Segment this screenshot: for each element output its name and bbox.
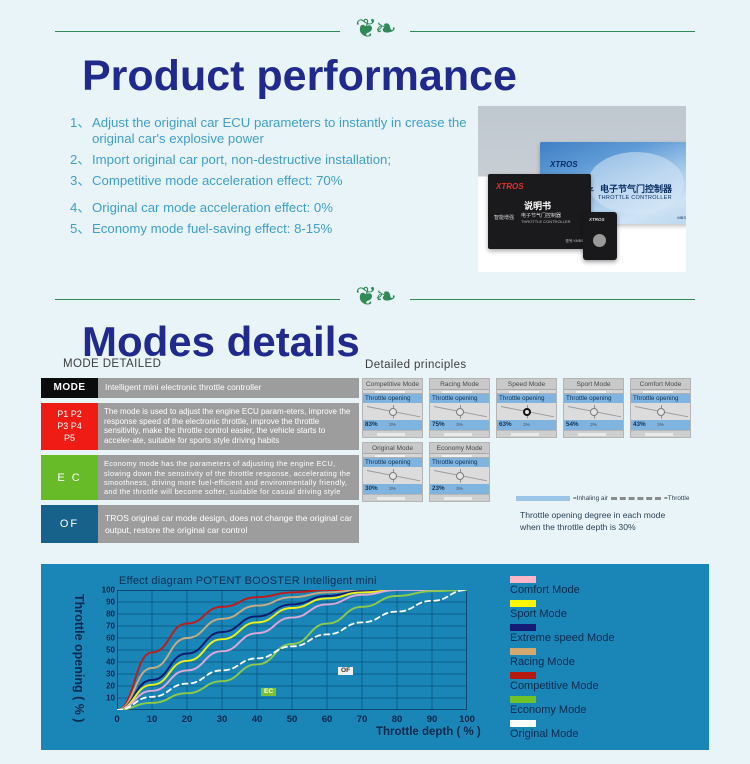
product-bullet-list: 1、 Adjust the original car ECU parameter… xyxy=(70,115,470,237)
unit-button-icon xyxy=(593,234,606,247)
unit-brand-logo: XTROS xyxy=(589,217,605,222)
manual-side-text: 智能增强 xyxy=(494,214,514,221)
mode-desc-cell: TROS original car mode design, does not … xyxy=(98,505,359,543)
chart-x-tick: 30 xyxy=(217,714,228,725)
legend-row: =Inhaling air =Throttle xyxy=(516,495,731,502)
table-row: P1 P2 P3 P4 P5 The mode is used to adjus… xyxy=(41,403,359,451)
mode-key-cell: P1 P2 P3 P4 P5 xyxy=(41,403,98,451)
bullet-text: Economy mode fuel-saving effect: 8-15% xyxy=(92,221,470,237)
principle-cards-row-2: Original ModeThrottle opening30%3%Econom… xyxy=(362,442,490,502)
box-model-code: MBS xyxy=(677,215,686,220)
card-throttle-opening-label: Throttle opening xyxy=(497,394,556,403)
card-throttle-knob-icon xyxy=(590,408,598,416)
chart-x-tick: 50 xyxy=(287,714,298,725)
product-manual: XTROS 说明书 电子节气门控制器 THROTTLE CONTROLLER 智… xyxy=(488,174,591,249)
product-control-unit: XTROS xyxy=(583,212,617,260)
product-photo: XTROS 电子 电子节气门控制器 THROTTLE CONTROLLER MB… xyxy=(478,106,686,272)
flourish-ornament-icon: ❦❧ xyxy=(355,14,395,44)
card-foot-percent: 3% xyxy=(590,422,597,427)
chart-y-tick: 70 xyxy=(93,622,115,631)
mode-desc-cell: The mode is used to adjust the engine EC… xyxy=(98,403,359,451)
table-row: E C Economy mode has the parameters of a… xyxy=(41,455,359,500)
mode-principle-card: Sport ModeThrottle opening54%3% xyxy=(563,378,624,438)
card-throttle-opening-label: Throttle opening xyxy=(430,394,489,403)
principle-cards-row-1: Competitive ModeThrottle opening83%3%Rac… xyxy=(362,378,691,438)
inhaling-air-swatch-icon xyxy=(516,496,570,501)
principle-legend: =Inhaling air =Throttle xyxy=(516,495,731,502)
chart-annotation-of: OF xyxy=(338,667,353,675)
card-footer: 3% xyxy=(430,494,489,501)
list-item: 5、 Economy mode fuel-saving effect: 8-15… xyxy=(70,221,470,237)
card-foot-percent: 3% xyxy=(657,422,664,427)
card-throttle-opening-label: Throttle opening xyxy=(363,458,422,467)
product-performance-section: ❦❧ Product performance 1、 Adjust the ori… xyxy=(0,14,750,237)
card-throttle-knob-icon xyxy=(523,408,531,416)
chart-y-tick: 90 xyxy=(93,598,115,607)
chart-legend-item: Sport Mode xyxy=(510,600,705,622)
modes-details-section: ❦❧ Modes details xyxy=(0,282,750,366)
chart-x-tick: 100 xyxy=(459,714,475,725)
chart-x-tick: 70 xyxy=(357,714,368,725)
chart-y-tick: 40 xyxy=(93,658,115,667)
chart-x-tick: 40 xyxy=(252,714,263,725)
bullet-number: 3、 xyxy=(70,173,92,189)
mode-principle-card: Original ModeThrottle opening30%3% xyxy=(362,442,423,502)
chart-x-tick: 10 xyxy=(147,714,158,725)
mode-key-cell: OF xyxy=(41,505,98,543)
chart-y-tick: 60 xyxy=(93,634,115,643)
chart-legend-item: Economy Mode xyxy=(510,696,705,718)
chart-x-tick: 60 xyxy=(322,714,333,725)
bullet-number: 2、 xyxy=(70,152,92,168)
card-footer: 3% xyxy=(631,430,690,437)
mode-principle-card: Competitive ModeThrottle opening83%3% xyxy=(362,378,423,438)
chart-x-tick: 80 xyxy=(392,714,403,725)
list-item: 4、 Original car mode acceleration effect… xyxy=(70,200,470,216)
card-throttle-opening-label: Throttle opening xyxy=(564,394,623,403)
manual-chinese-title: 说明书 xyxy=(524,199,551,212)
chart-y-tick: 50 xyxy=(93,646,115,655)
mode-desc-cell: Intelligent mini electronic throttle con… xyxy=(98,378,359,398)
list-item: 2、 Import original car port, non-destruc… xyxy=(70,152,470,168)
chart-y-tick: 80 xyxy=(93,610,115,619)
bullet-text: Adjust the original car ECU parameters t… xyxy=(92,115,470,147)
legend-label-throttle: =Throttle xyxy=(664,495,689,502)
card-throttle-knob-icon xyxy=(389,472,397,480)
card-throttle-knob-icon xyxy=(657,408,665,416)
chart-svg xyxy=(117,590,467,710)
chart-y-tick: 100 xyxy=(93,586,115,595)
chart-x-tick: 0 xyxy=(114,714,119,725)
manual-english-title: THROTTLE CONTROLLER xyxy=(521,219,571,224)
manual-brand-logo: XTROS xyxy=(496,182,524,191)
legend-label: Economy Mode xyxy=(510,703,705,718)
mode-principle-card: Racing ModeThrottle opening75%3% xyxy=(429,378,490,438)
card-title: Competitive Mode xyxy=(363,379,422,390)
chart-annotation-ec: EC xyxy=(261,688,276,696)
legend-color-swatch-icon xyxy=(510,696,536,703)
bullet-text: Import original car port, non-destructiv… xyxy=(92,152,470,168)
card-footer: 3% xyxy=(430,430,489,437)
manual-subtitle: 电子节气门控制器 xyxy=(521,212,561,219)
divider-line-left xyxy=(55,31,340,32)
principle-caption: Throttle opening degree in each mode whe… xyxy=(520,509,735,533)
card-title: Racing Mode xyxy=(430,379,489,390)
legend-label: Sport Mode xyxy=(510,607,705,622)
legend-label-inhaling: =Inhaling air xyxy=(573,495,608,502)
caption-line-1: Throttle opening degree in each mode xyxy=(520,509,735,521)
legend-color-swatch-icon xyxy=(510,576,536,583)
caption-line-2: when the throttle depth is 30% xyxy=(520,521,735,533)
flourish-ornament-icon: ❦❧ xyxy=(355,282,395,312)
chart-legend: Comfort ModeSport ModeExtreme speed Mode… xyxy=(510,576,705,744)
card-throttle-opening-label: Throttle opening xyxy=(631,394,690,403)
card-throttle-knob-icon xyxy=(456,408,464,416)
chart-y-tick: 10 xyxy=(93,694,115,703)
chart-legend-item: Original Mode xyxy=(510,720,705,742)
card-footer: 3% xyxy=(363,430,422,437)
table-row: OF TROS original car mode design, does n… xyxy=(41,505,359,543)
ornament-divider-top: ❦❧ xyxy=(0,14,750,48)
mode-key-cell: MODE xyxy=(41,378,98,398)
box-brand-logo: XTROS xyxy=(550,160,578,169)
box-english-title: THROTTLE CONTROLLER xyxy=(598,195,672,201)
list-item: 3、 Competitive mode acceleration effect:… xyxy=(70,173,470,189)
mode-desc-cell: Economy mode has the parameters of adjus… xyxy=(98,455,359,500)
card-footer: 3% xyxy=(363,494,422,501)
card-foot-percent: 3% xyxy=(456,486,463,491)
legend-color-swatch-icon xyxy=(510,672,536,679)
list-item: 1、 Adjust the original car ECU parameter… xyxy=(70,115,470,147)
card-footer: 3% xyxy=(497,430,556,437)
chart-title: Effect diagram POTENT BOOSTER Intelligen… xyxy=(119,575,377,587)
legend-label: Extreme speed Mode xyxy=(510,631,705,646)
legend-label: Racing Mode xyxy=(510,655,705,670)
chart-legend-item: Extreme speed Mode xyxy=(510,624,705,646)
card-title: Original Mode xyxy=(363,443,422,454)
card-foot-percent: 3% xyxy=(523,422,530,427)
mode-key-cell: E C xyxy=(41,455,98,500)
legend-color-swatch-icon xyxy=(510,624,536,631)
card-footer: 3% xyxy=(564,430,623,437)
mode-principle-card: Economy ModeThrottle opening23%3% xyxy=(429,442,490,502)
page-title-product: Product performance xyxy=(82,52,750,101)
chart-legend-item: Comfort Mode xyxy=(510,576,705,598)
card-foot-percent: 3% xyxy=(456,422,463,427)
bullet-number: 5、 xyxy=(70,221,92,237)
legend-label: Comfort Mode xyxy=(510,583,705,598)
card-throttle-opening-label: Throttle opening xyxy=(363,394,422,403)
chart-y-tick: 20 xyxy=(93,682,115,691)
mode-detail-table: MODE Intelligent mini electronic throttl… xyxy=(41,378,359,548)
chart-y-tick: 30 xyxy=(93,670,115,679)
divider-line-right xyxy=(410,299,695,300)
legend-color-swatch-icon xyxy=(510,720,536,727)
mode-detailed-heading: MODE DETAILED xyxy=(63,358,161,370)
bullet-text: Competitive mode acceleration effect: 70… xyxy=(92,173,470,189)
card-title: Speed Mode xyxy=(497,379,556,390)
divider-line-right xyxy=(410,31,695,32)
chart-y-axis-label: Throttle opening ( % ) xyxy=(70,594,86,722)
card-foot-percent: 3% xyxy=(389,486,396,491)
card-title: Economy Mode xyxy=(430,443,489,454)
chart-legend-item: Racing Mode xyxy=(510,648,705,670)
chart-x-axis-label: Throttle depth ( % ) xyxy=(376,726,481,738)
legend-color-swatch-icon xyxy=(510,600,536,607)
legend-color-swatch-icon xyxy=(510,648,536,655)
card-title: Sport Mode xyxy=(564,379,623,390)
chart-legend-item: Competitive Mode xyxy=(510,672,705,694)
bullet-number: 4、 xyxy=(70,200,92,216)
chart-x-tick: 90 xyxy=(427,714,438,725)
card-throttle-opening-label: Throttle opening xyxy=(430,458,489,467)
card-foot-percent: 3% xyxy=(389,422,396,427)
ornament-divider-middle: ❦❧ xyxy=(0,282,750,316)
throttle-swatch-icon xyxy=(611,497,661,500)
divider-line-left xyxy=(55,299,340,300)
mode-principle-card: Comfort ModeThrottle opening43%3% xyxy=(630,378,691,438)
chart-plot-area: 102030405060708090100 010203040506070809… xyxy=(117,590,467,710)
legend-label: Competitive Mode xyxy=(510,679,705,694)
legend-label: Original Mode xyxy=(510,727,705,742)
chart-x-tick: 20 xyxy=(182,714,193,725)
table-row: MODE Intelligent mini electronic throttl… xyxy=(41,378,359,398)
mode-principle-card: Speed ModeThrottle opening63%3% xyxy=(496,378,557,438)
card-title: Comfort Mode xyxy=(631,379,690,390)
bullet-text: Original car mode acceleration effect: 0… xyxy=(92,200,470,216)
bullet-number: 1、 xyxy=(70,115,92,147)
box-chinese-title: 电子节气门控制器 xyxy=(600,182,672,195)
card-throttle-knob-icon xyxy=(389,408,397,416)
detailed-principles-heading: Detailed principles xyxy=(365,359,467,371)
card-throttle-knob-icon xyxy=(456,472,464,480)
